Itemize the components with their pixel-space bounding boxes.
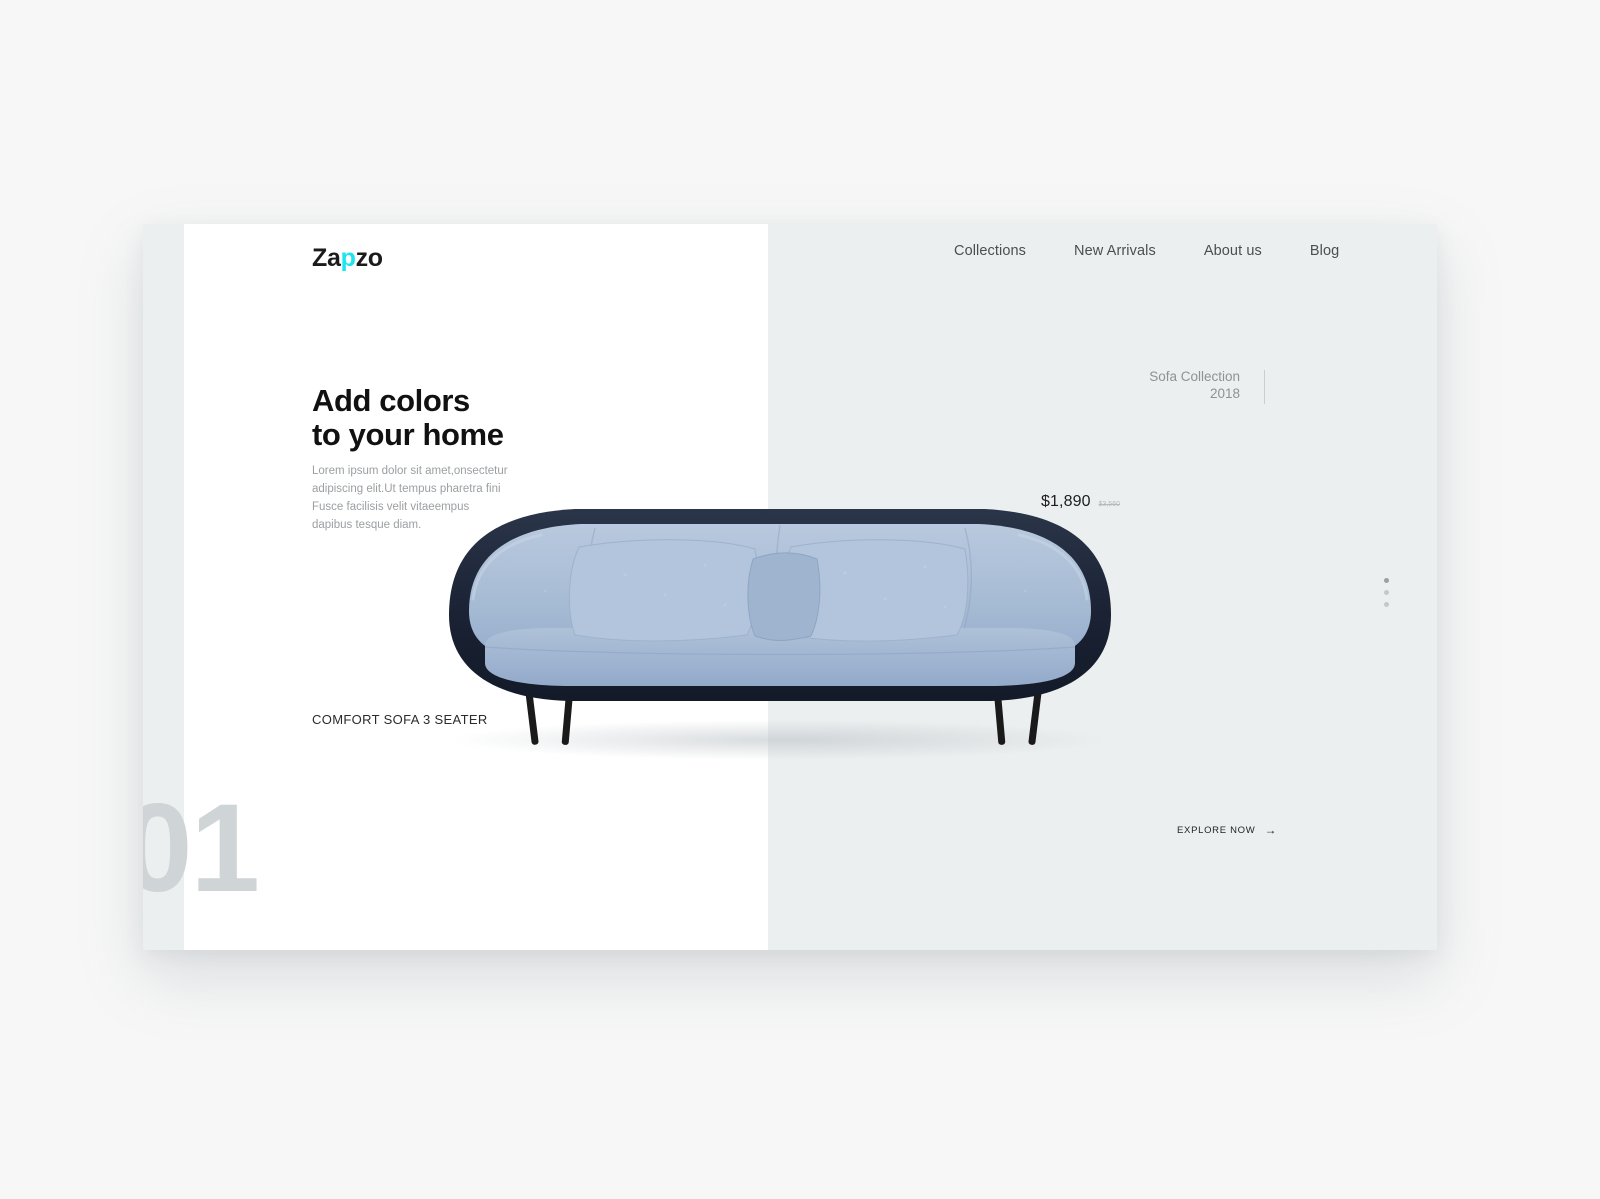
brand-logo-part1: Za (312, 244, 341, 272)
hero-headline-line2: to your home (312, 417, 504, 452)
hero-headline: Add colors to your home (312, 384, 504, 453)
collection-title: Sofa Collection (1092, 368, 1240, 385)
brand-logo[interactable]: Zapzo (312, 244, 383, 273)
explore-now-label: EXPLORE NOW (1177, 825, 1255, 836)
carousel-dot-2[interactable] (1384, 590, 1389, 595)
price-current: $1,890 (1041, 493, 1091, 511)
hero-headline-line1: Add colors (312, 383, 470, 418)
price-block: $1,890 $3,560 (1000, 493, 1120, 511)
page-root: 01 Zapzo Collections New Arrivals About … (0, 0, 1600, 1199)
collection-meta: Sofa Collection 2018 (1092, 368, 1240, 403)
slide-number-watermark: 01 (143, 786, 258, 911)
product-image-sofa (425, 495, 1135, 765)
hero-body-text: Lorem ipsum dolor sit amet,onsectetur ad… (312, 462, 512, 535)
collection-divider (1264, 370, 1265, 404)
brand-logo-accent: p (341, 244, 356, 272)
main-navigation: Collections New Arrivals About us Blog (930, 243, 1363, 259)
nav-item-blog[interactable]: Blog (1286, 243, 1363, 259)
arrow-right-icon: → (1264, 824, 1277, 836)
price-original: $3,560 (1099, 501, 1120, 508)
product-name-label: COMFORT SOFA 3 SEATER (312, 712, 488, 727)
brand-logo-part2: zo (356, 244, 383, 272)
nav-item-collections[interactable]: Collections (930, 243, 1050, 259)
explore-now-button[interactable]: EXPLORE NOW → (1177, 824, 1277, 836)
carousel-dots (1384, 578, 1389, 607)
collection-year: 2018 (1092, 385, 1240, 402)
nav-item-about-us[interactable]: About us (1180, 243, 1286, 259)
nav-item-new-arrivals[interactable]: New Arrivals (1050, 243, 1180, 259)
carousel-dot-3[interactable] (1384, 602, 1389, 607)
carousel-dot-1[interactable] (1384, 578, 1389, 583)
